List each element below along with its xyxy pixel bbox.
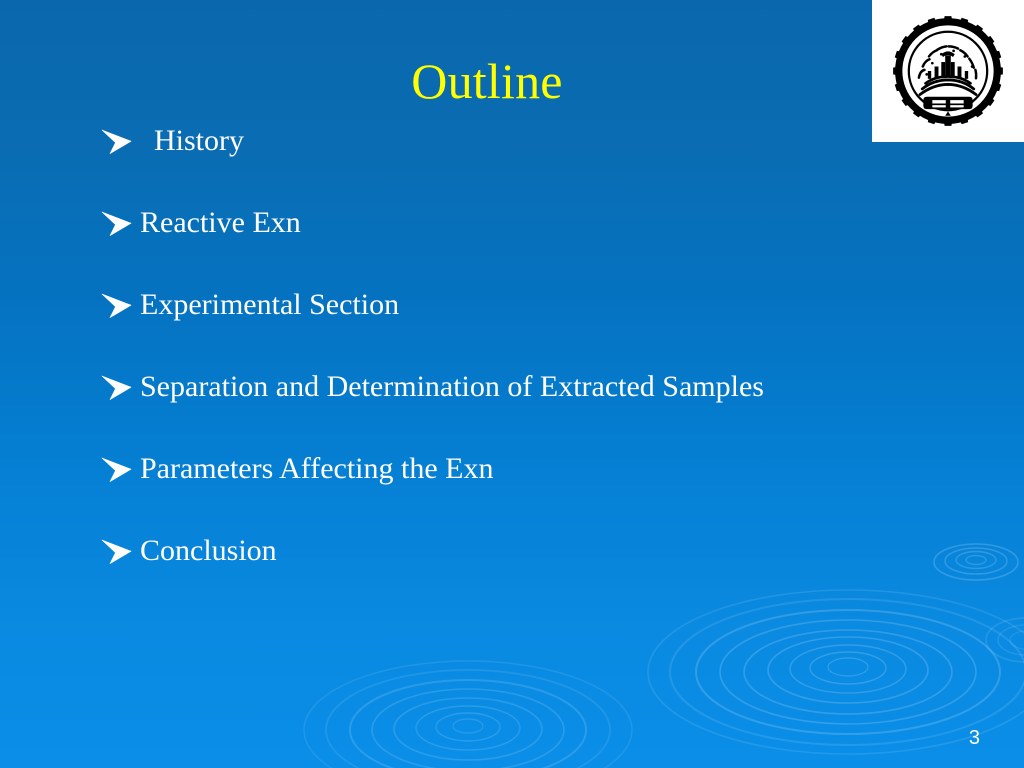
list-item-label: Reactive Exn — [140, 204, 980, 240]
arrowhead-bullet-icon — [100, 122, 140, 155]
ripple-medium-center — [350, 680, 586, 768]
ripple-large-right — [696, 610, 1000, 734]
outline-bullet-list: History Reactive Exn Experimental Sectio… — [100, 122, 980, 614]
list-item[interactable]: Separation and Determination of Extracte… — [100, 368, 980, 450]
list-item[interactable]: Reactive Exn — [100, 204, 980, 286]
ripple-large-right-outer — [648, 590, 1024, 754]
presentation-slide: Outline History Reactive Exn — [0, 0, 1024, 768]
list-item-label: Experimental Section — [140, 286, 980, 322]
list-item-label: Conclusion — [140, 532, 980, 568]
list-item-label: Separation and Determination of Extracte… — [140, 368, 980, 404]
arrowhead-bullet-icon — [100, 368, 140, 401]
ripple-edge-right — [986, 618, 1024, 662]
arrowhead-bullet-icon — [100, 532, 140, 565]
list-item-label: Parameters Affecting the Exn — [140, 450, 980, 486]
list-item-label: History — [140, 122, 980, 158]
arrowhead-bullet-icon — [100, 286, 140, 319]
page-title: Outline — [0, 52, 974, 110]
list-item[interactable]: Parameters Affecting the Exn — [100, 450, 980, 532]
page-number: 3 — [969, 726, 980, 750]
list-item[interactable]: History — [100, 122, 980, 204]
ripple-medium-center-outer — [304, 661, 632, 768]
list-item[interactable]: Conclusion — [100, 532, 980, 614]
arrowhead-bullet-icon — [100, 204, 140, 237]
list-item[interactable]: Experimental Section — [100, 286, 980, 368]
arrowhead-bullet-icon — [100, 450, 140, 483]
